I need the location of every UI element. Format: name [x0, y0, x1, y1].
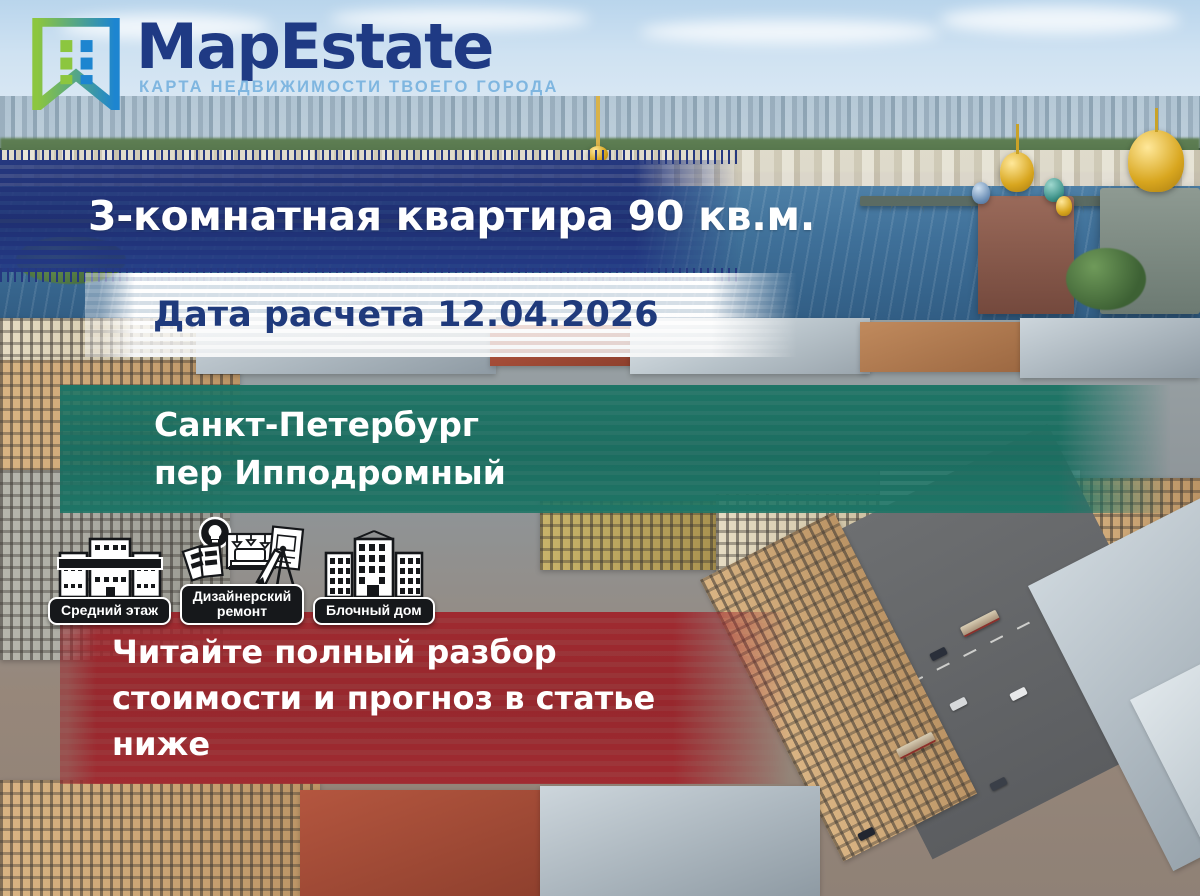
badge-block-house[interactable]: Блочный дом: [313, 529, 435, 625]
rust-roof: [860, 322, 1040, 372]
badge-designer-renovation[interactable]: Дизайнерский ремонт: [179, 516, 305, 625]
cloud: [940, 6, 1180, 34]
address-banner: Санкт-Петербург пер Ипподромный: [60, 385, 1170, 513]
calculation-date-banner: Дата расчета 12.04.2026: [85, 273, 797, 357]
mid-floor-building-icon: [56, 531, 164, 603]
cta-line-2: стоимости и прогноз в статье: [112, 675, 655, 721]
small-gold-dome: [1056, 196, 1072, 216]
highlight-bar: [58, 558, 162, 569]
building-facade: [0, 780, 320, 896]
blue-dome: [972, 182, 990, 204]
designer-renovation-icon: [179, 516, 305, 590]
brand-tagline: КАРТА НЕДВИЖИМОСТИ ТВОЕГО ГОРОДА: [139, 78, 559, 97]
cta-line-1: Читайте полный разбор: [112, 629, 655, 675]
metal-roof: [540, 786, 820, 896]
property-title-banner: 3-комнатная квартира 90 кв.м.: [0, 160, 738, 272]
metal-roof: [1020, 318, 1200, 378]
badge-label-block-house: Блочный дом: [313, 597, 435, 625]
park-trees: [1066, 248, 1146, 310]
badge-mid-floor[interactable]: Средний этаж: [48, 531, 171, 625]
brand-logo[interactable]: MapEstate КАРТА НЕДВИЖИМОСТИ ТВОЕГО ГОРО…: [30, 18, 559, 110]
golden-dome: [1000, 152, 1034, 192]
cloud: [640, 20, 940, 44]
property-title-text: 3-комнатная квартира 90 кв.м.: [88, 192, 815, 240]
feature-badges: Средний этаж: [48, 516, 435, 625]
badge-label-mid-floor: Средний этаж: [48, 597, 171, 625]
address-lines: Санкт-Петербург пер Ипподромный: [154, 401, 506, 496]
brush-edge-top: [0, 150, 738, 164]
cta-lines: Читайте полный разбор стоимости и прогно…: [112, 629, 655, 767]
cta-banner: Читайте полный разбор стоимости и прогно…: [60, 612, 790, 784]
block-house-icon: [320, 529, 428, 603]
brand-wordmark: MapEstate: [136, 18, 559, 77]
red-roof: [300, 790, 560, 896]
badge-label-designer-renovation: Дизайнерский ремонт: [180, 584, 305, 625]
peter-paul-spire: [596, 96, 600, 152]
cta-line-3: ниже: [112, 721, 655, 767]
cathedral-spire: [1155, 108, 1158, 132]
cathedral-golden-dome: [1128, 130, 1184, 192]
address-city: Санкт-Петербург: [154, 401, 506, 449]
calculation-date-text: Дата расчета 12.04.2026: [153, 295, 659, 335]
spire: [1016, 124, 1019, 154]
bookmark-building-icon: [30, 18, 122, 110]
address-street: пер Ипподромный: [154, 449, 506, 497]
poster-canvas: MapEstate КАРТА НЕДВИЖИМОСТИ ТВОЕГО ГОРО…: [0, 0, 1200, 896]
